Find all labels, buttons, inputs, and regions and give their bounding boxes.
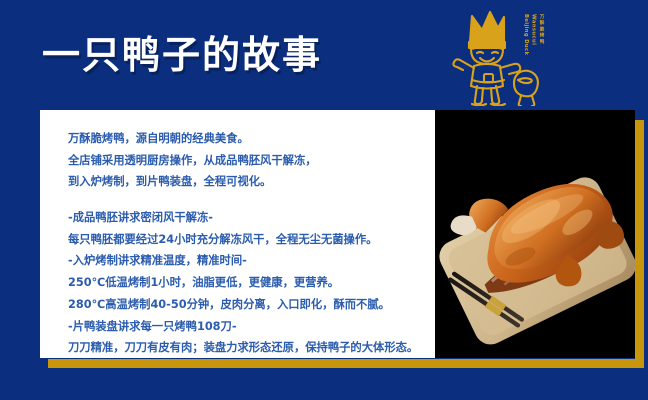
brand-latin-line1: Wansucui	[530, 14, 536, 45]
brand-latin-line2: Beijing Duck	[523, 14, 529, 55]
brand-logo: 万 酥 脆 烤 鸭 Wansucui Beijing Duck	[446, 8, 546, 106]
section-2-heading: -入炉烤制讲求精准温度，精准时间-	[68, 250, 429, 272]
section-1-line-1: 每只鸭胚都要经过24小时充分解冻风干，全程无尘无菌操作。	[68, 229, 429, 251]
section-1-heading: -成品鸭胚讲求密闭风干解冻-	[68, 207, 429, 229]
content-card: 万酥脆烤鸭，源自明朝的经典美食。 全店铺采用透明厨房操作，从成品鸭胚风干解冻， …	[40, 110, 439, 358]
intro-line-3: 到入炉烤制，到片鸭装盘，全程可视化。	[68, 171, 429, 193]
roast-duck-illustration	[435, 110, 635, 358]
section-3-heading: -片鸭装盘讲求每一只烤鸭108刀-	[68, 316, 429, 338]
section-3-line-1: 刀刀精准，刀刀有皮有肉；装盘力求形态还原，保持鸭子的大体形态。	[68, 337, 429, 359]
page-title: 一只鸭子的故事	[42, 36, 322, 74]
spacer	[68, 193, 429, 207]
brand-cn-name: 万 酥 脆 烤 鸭	[539, 14, 544, 43]
section-2-line-2: 280℃高温烤制40-50分钟，皮肉分离，入口即化，酥而不腻。	[68, 294, 429, 316]
section-2-line-1: 250℃低温烤制1小时，油脂更低，更健康，更营养。	[68, 272, 429, 294]
brand-text: 万 酥 脆 烤 鸭 Wansucui Beijing Duck	[521, 14, 544, 66]
slide-root: 一只鸭子的故事	[0, 0, 648, 400]
intro-line-2: 全店铺采用透明厨房操作，从成品鸭胚风干解冻，	[68, 150, 429, 172]
duck-photo	[435, 110, 635, 358]
intro-line-1: 万酥脆烤鸭，源自明朝的经典美食。	[68, 128, 429, 150]
content-body: 万酥脆烤鸭，源自明朝的经典美食。 全店铺采用透明厨房操作，从成品鸭胚风干解冻， …	[68, 128, 429, 359]
